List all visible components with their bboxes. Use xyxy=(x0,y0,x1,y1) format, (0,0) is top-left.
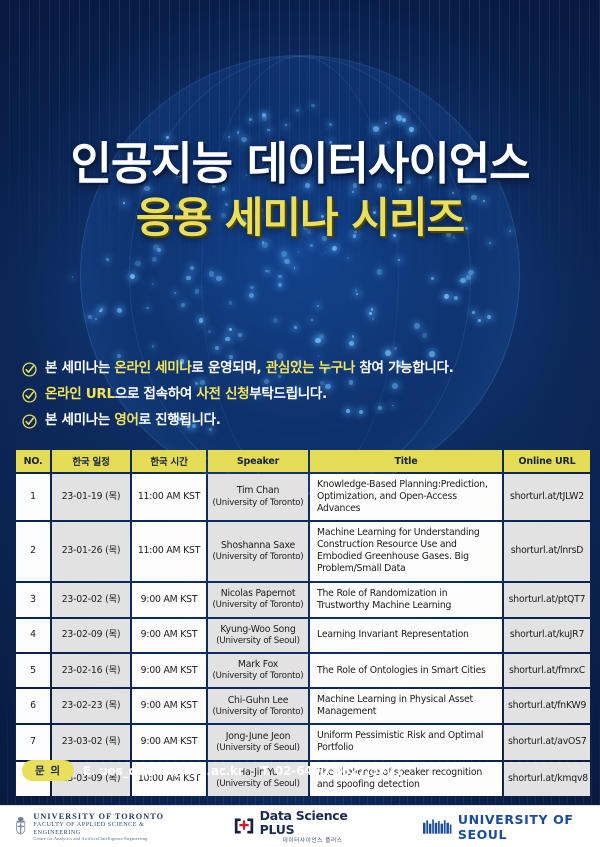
table-row: 523-02-16 (목)9:00 AM KSTMark Fox(Univers… xyxy=(16,654,590,687)
notice-bullet-3: 본 세미나는 영어로 진행됩니다. xyxy=(22,412,578,429)
uoft-crest-icon xyxy=(14,815,27,837)
table-row: 623-02-23 (목)9:00 AM KSTChi-Guhn Lee(Uni… xyxy=(16,689,590,723)
cell-time: 9:00 AM KST xyxy=(132,583,206,617)
cell-date: 23-02-02 (목) xyxy=(52,583,130,617)
speaker-name: Jong-June Jeon xyxy=(212,731,304,743)
cell-no: 7 xyxy=(16,725,50,759)
speaker-affiliation: (University of Toronto) xyxy=(212,552,304,563)
cell-url[interactable]: shorturl.at/avOS7 xyxy=(504,725,590,759)
notice-bullet-1: 본 세미나는 온라인 세미나로 운영되며, 관심있는 누구나 참여 가능합니다. xyxy=(22,360,578,377)
cell-speaker: Chi-Guhn Lee(University of Toronto) xyxy=(208,689,308,723)
cell-title: Machine Learning in Physical Asset Manag… xyxy=(310,689,502,723)
footer-logo-bar: UNIVERSITY OF TORONTO FACULTY OF APPLIED… xyxy=(0,805,600,847)
notice-bullet-list: 본 세미나는 온라인 세미나로 운영되며, 관심있는 누구나 참여 가능합니다.… xyxy=(22,360,578,438)
cell-url[interactable]: shorturl.at/lnrsD xyxy=(504,522,590,580)
cell-no: 2 xyxy=(16,522,50,580)
contact-row: 문 의 E. uos_dsplus@uos.ac.kr T. 02-6490-2… xyxy=(22,760,403,781)
column-header-title: Title xyxy=(310,450,502,472)
cell-title: Knowledge-Based Planning:Prediction, Opt… xyxy=(310,474,502,520)
cell-date: 23-02-09 (목) xyxy=(52,619,130,652)
cell-no: 6 xyxy=(16,689,50,723)
poster-title: 인공지능 데이터사이언스 응용 세미나 시리즈 xyxy=(0,140,600,244)
cell-speaker: Nicolas Papernot(University of Toronto) xyxy=(208,583,308,617)
speaker-affiliation: (University of Seoul) xyxy=(212,743,304,754)
cell-url[interactable]: shorturl.at/fmrxC xyxy=(504,654,590,687)
cell-url[interactable]: shorturl.at/ptQT7 xyxy=(504,583,590,617)
logo-data-science-plus: Data Science PLUS 데이터사이언스 플러스 xyxy=(234,809,366,844)
speaker-name: Kyung-Woo Song xyxy=(212,624,304,636)
notice-bullet-2: 온라인 URL으로 접속하여 사전 신청부탁드립니다. xyxy=(22,386,578,403)
cell-time: 9:00 AM KST xyxy=(132,654,206,687)
column-header-no: NO. xyxy=(16,450,50,472)
speaker-affiliation: (University of Seoul) xyxy=(212,636,304,647)
cell-title: The Role of Ontologies in Smart Cities xyxy=(310,654,502,687)
cell-speaker: Shoshanna Saxe(University of Toronto) xyxy=(208,522,308,580)
speaker-name: Tim Chan xyxy=(212,485,304,497)
speaker-affiliation: (University of Toronto) xyxy=(212,707,304,718)
cell-date: 23-01-19 (목) xyxy=(52,474,130,520)
cell-time: 9:00 AM KST xyxy=(132,619,206,652)
logo-university-of-seoul: UNIVERSITY OF SEOUL xyxy=(423,812,600,842)
speaker-name: Chi-Guhn Lee xyxy=(212,695,304,707)
column-header-url: Online URL xyxy=(504,450,590,472)
cell-time: 9:00 AM KST xyxy=(132,689,206,723)
dsplus-line-1: Data Science PLUS xyxy=(260,809,366,838)
uoft-line-1: UNIVERSITY OF TORONTO xyxy=(33,812,167,822)
table-row: 223-01-26 (목)11:00 AM KSTShoshanna Saxe(… xyxy=(16,522,590,580)
column-header-time: 한국 시간 xyxy=(132,450,206,472)
cell-no: 4 xyxy=(16,619,50,652)
notice-bullet-text: 본 세미나는 온라인 세미나로 운영되며, 관심있는 누구나 참여 가능합니다. xyxy=(45,360,453,377)
cell-title: Uniform Pessimistic Risk and Optimal Por… xyxy=(310,725,502,759)
cell-date: 23-02-16 (목) xyxy=(52,654,130,687)
speaker-name: Mark Fox xyxy=(212,659,304,671)
contact-email[interactable]: E. uos_dsplus@uos.ac.kr xyxy=(83,764,244,778)
speaker-name: Nicolas Papernot xyxy=(212,588,304,600)
cell-title: Learning Invariant Representation xyxy=(310,619,502,652)
speaker-affiliation: (University of Toronto) xyxy=(212,671,304,682)
check-circle-icon xyxy=(22,388,37,403)
cell-speaker: Kyung-Woo Song(University of Seoul) xyxy=(208,619,308,652)
cell-title: Machine Learning for Understanding Const… xyxy=(310,522,502,580)
cell-time: 11:00 AM KST xyxy=(132,522,206,580)
cell-date: 23-03-02 (목) xyxy=(52,725,130,759)
dsplus-line-2: 데이터사이언스 플러스 xyxy=(260,838,366,844)
table-row: 423-02-09 (목)9:00 AM KSTKyung-Woo Song(U… xyxy=(16,619,590,652)
cell-url[interactable]: shorturl.at/kuJR7 xyxy=(504,619,590,652)
notice-bullet-text: 온라인 URL으로 접속하여 사전 신청부탁드립니다. xyxy=(45,386,327,403)
speaker-affiliation: (University of Toronto) xyxy=(212,600,304,611)
table-row: 723-03-02 (목)9:00 AM KSTJong-June Jeon(U… xyxy=(16,725,590,759)
column-header-speaker: Speaker xyxy=(208,450,308,472)
speaker-affiliation: (University of Toronto) xyxy=(212,498,304,509)
cell-time: 11:00 AM KST xyxy=(132,474,206,520)
cell-speaker: Jong-June Jeon(University of Seoul) xyxy=(208,725,308,759)
table-header-row: NO. 한국 일정 한국 시간 Speaker Title Online URL xyxy=(16,450,590,472)
uos-line-1: UNIVERSITY OF SEOUL xyxy=(458,812,600,842)
data-science-plus-mark-icon xyxy=(234,815,254,837)
contact-details: E. uos_dsplus@uos.ac.kr T. 02-6490-2627/… xyxy=(83,764,403,778)
cell-date: 23-02-23 (목) xyxy=(52,689,130,723)
cell-no: 3 xyxy=(16,583,50,617)
cell-url[interactable]: shorturl.at/kmqv8 xyxy=(504,762,590,796)
contact-phone[interactable]: T. 02-6490-2627/5701 xyxy=(261,764,403,778)
uos-barcode-mark-icon xyxy=(423,817,451,837)
uoft-line-3: Centre for Analytics and Artificial Inte… xyxy=(33,836,167,841)
table-row: 123-01-19 (목)11:00 AM KSTTim Chan(Univer… xyxy=(16,474,590,520)
cell-no: 1 xyxy=(16,474,50,520)
seminar-poster: 인공지능 데이터사이언스 응용 세미나 시리즈 본 세미나는 온라인 세미나로 … xyxy=(0,0,600,847)
cell-date: 23-01-26 (목) xyxy=(52,522,130,580)
cell-speaker: Tim Chan(University of Toronto) xyxy=(208,474,308,520)
cell-url[interactable]: shorturl.at/fnKW9 xyxy=(504,689,590,723)
column-header-date: 한국 일정 xyxy=(52,450,130,472)
seminar-schedule-table: NO. 한국 일정 한국 시간 Speaker Title Online URL… xyxy=(14,448,592,798)
cell-url[interactable]: shorturl.at/tJLW2 xyxy=(504,474,590,520)
logo-university-of-toronto: UNIVERSITY OF TORONTO FACULTY OF APPLIED… xyxy=(14,812,168,841)
cell-speaker: Mark Fox(University of Toronto) xyxy=(208,654,308,687)
contact-badge: 문 의 xyxy=(22,760,74,781)
cell-time: 9:00 AM KST xyxy=(132,725,206,759)
check-circle-icon xyxy=(22,362,37,377)
table-row: 323-02-02 (목)9:00 AM KSTNicolas Papernot… xyxy=(16,583,590,617)
check-circle-icon xyxy=(22,414,37,429)
speaker-name: Shoshanna Saxe xyxy=(212,540,304,552)
cell-no: 5 xyxy=(16,654,50,687)
title-line-1: 인공지능 데이터사이언스 xyxy=(0,140,600,187)
uoft-line-2: FACULTY OF APPLIED SCIENCE & ENGINEERING xyxy=(33,821,167,836)
notice-bullet-text: 본 세미나는 영어로 진행됩니다. xyxy=(45,412,221,429)
cell-title: The Role of Randomization in Trustworthy… xyxy=(310,583,502,617)
title-line-2: 응용 세미나 시리즈 xyxy=(0,193,600,243)
